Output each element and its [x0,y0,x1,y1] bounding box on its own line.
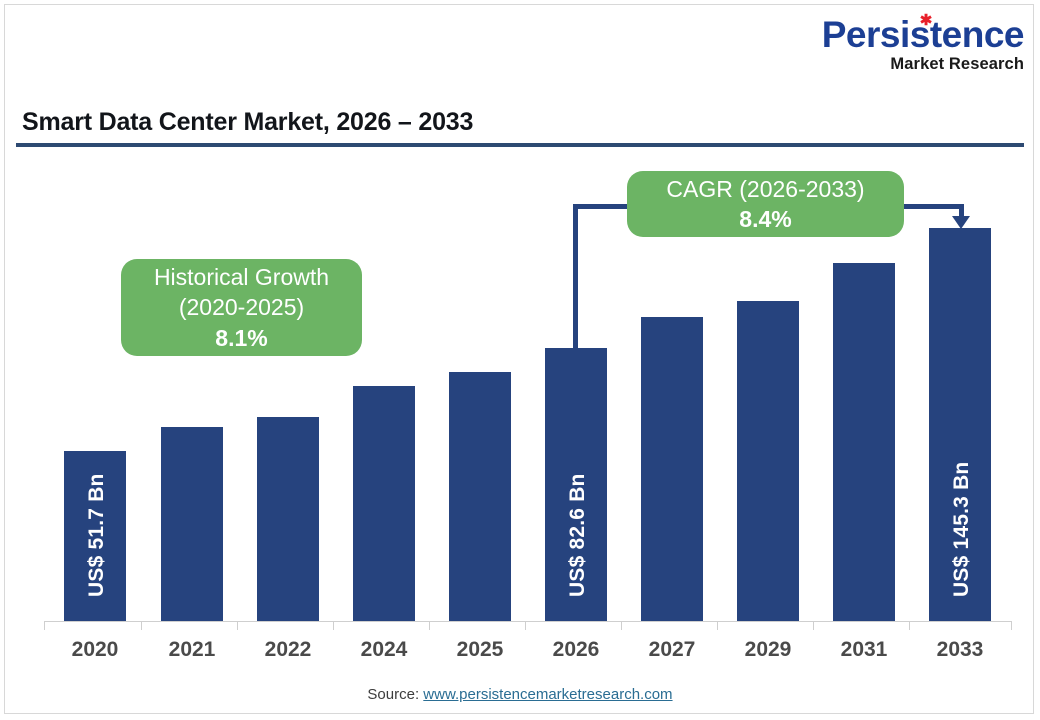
x-axis-tick [237,621,238,630]
bar-value-label-2026: US$ 82.6 Bn [566,473,590,597]
x-axis-tick [44,621,45,630]
cagr-title: CAGR (2026-2033) [666,174,864,204]
bar-2027 [641,317,703,621]
x-axis-label-2024: 2024 [334,638,434,662]
historical-growth-callout: Historical Growth (2020-2025) 8.1% [121,259,362,356]
historical-growth-title: Historical Growth [154,262,329,292]
historical-growth-period: (2020-2025) [179,292,304,322]
bar-value-label-2033: US$ 145.3 Bn [950,462,974,597]
cagr-value: 8.4% [739,204,791,234]
x-axis-tick [621,621,622,630]
x-axis-label-2021: 2021 [142,638,242,662]
x-axis-tick [717,621,718,630]
x-axis-label-2031: 2031 [814,638,914,662]
x-axis-label-2027: 2027 [622,638,722,662]
x-axis-label-2026: 2026 [526,638,626,662]
x-axis-label-2020: 2020 [45,638,145,662]
x-axis-label-2033: 2033 [910,638,1010,662]
cagr-connector-arrow-icon [952,216,970,229]
bar-chart: US$ 51.7 Bn US$ 82.6 Bn US$ 145.3 Bn 202… [0,0,1040,720]
x-axis-tick [909,621,910,630]
cagr-callout: CAGR (2026-2033) 8.4% [627,171,904,237]
x-axis-line [44,621,1012,622]
bar-2025 [449,372,511,621]
bar-value-label-2020: US$ 51.7 Bn [85,473,109,597]
x-axis-tick [429,621,430,630]
bar-2024 [353,386,415,621]
x-axis-label-2025: 2025 [430,638,530,662]
bar-2031 [833,263,895,621]
x-axis-tick [813,621,814,630]
source-link[interactable]: www.persistencemarketresearch.com [423,686,672,703]
x-axis-label-2029: 2029 [718,638,818,662]
bar-2029 [737,301,799,621]
source-prefix: Source: [367,686,423,703]
bar-2022 [257,417,319,621]
historical-growth-value: 8.1% [215,323,267,353]
x-axis-tick [1011,621,1012,630]
bar-2021 [161,427,223,621]
x-axis-tick [525,621,526,630]
cagr-connector-vertical-left [573,204,578,350]
x-axis-tick [333,621,334,630]
x-axis-tick [141,621,142,630]
chart-page: Persistence ✱ Market Research Smart Data… [0,0,1040,720]
x-axis-label-2022: 2022 [238,638,338,662]
source-line: Source: www.persistencemarketresearch.co… [0,686,1040,703]
